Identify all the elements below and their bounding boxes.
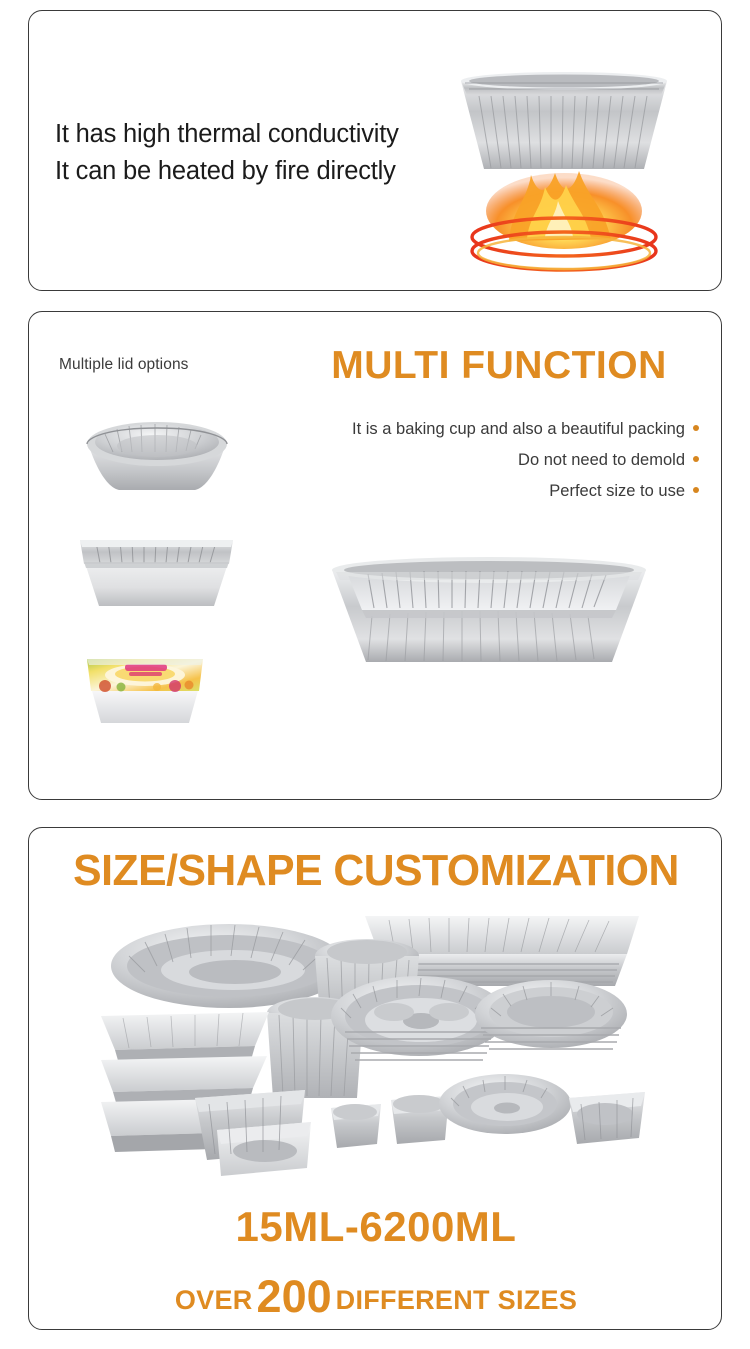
lid-option-printed-paper-lid [77, 647, 212, 729]
foil-pan-over-flame-image [439, 41, 689, 271]
lid-option-rect-foil-container [74, 522, 239, 614]
different-sizes-text: OVER200DIFFERENT SIZES [29, 1271, 723, 1323]
foil-oval-pie-plate [111, 924, 347, 1008]
foil-round-lid-stack [475, 980, 627, 1049]
bullet-text: Do not need to demold [518, 451, 685, 469]
large-foil-pan-image [324, 544, 654, 669]
bullet-item: Perfect size to use [279, 476, 699, 507]
thermal-line-2: It can be heated by fire directly [55, 153, 399, 190]
size-shape-heading: SIZE/SHAPE CUSTOMIZATION [39, 846, 712, 896]
subtitle-post: DIFFERENT SIZES [336, 1285, 578, 1315]
bullet-dot-icon [693, 487, 699, 493]
thermal-text-block: It has high thermal conductivity It can … [55, 116, 399, 190]
lid-option-round-foil-bowl [67, 394, 247, 499]
bullet-text: Perfect size to use [549, 482, 685, 500]
panel-size-shape-customization: SIZE/SHAPE CUSTOMIZATION [28, 827, 722, 1330]
bullet-dot-icon [693, 425, 699, 431]
bullet-item: It is a baking cup and also a beautiful … [279, 414, 699, 445]
foil-loaf-pan-front [195, 1090, 311, 1176]
panel-thermal-conductivity: It has high thermal conductivity It can … [28, 10, 722, 291]
thermal-line-1: It has high thermal conductivity [55, 116, 399, 153]
subtitle-count: 200 [257, 1271, 332, 1322]
foil-round-plate-front-right [439, 1074, 571, 1134]
foil-square-tray-far-right [569, 1092, 645, 1144]
multi-function-heading: MULTI FUNCTION [314, 343, 684, 389]
multi-function-bullet-list: It is a baking cup and also a beautiful … [279, 414, 699, 507]
bullet-dot-icon [693, 456, 699, 462]
volume-range-text: 15ML-6200ML [29, 1203, 723, 1251]
bullet-text: It is a baking cup and also a beautiful … [352, 420, 685, 438]
assorted-foil-containers-image [99, 908, 659, 1183]
panel-multi-function: Multiple lid options MULTI FUNCTION It i… [28, 311, 722, 800]
bullet-item: Do not need to demold [279, 445, 699, 476]
subtitle-pre: OVER [175, 1285, 253, 1315]
foil-pan-shape [461, 72, 667, 169]
lid-options-label: Multiple lid options [59, 356, 189, 374]
foil-small-square-containers [331, 1095, 449, 1148]
